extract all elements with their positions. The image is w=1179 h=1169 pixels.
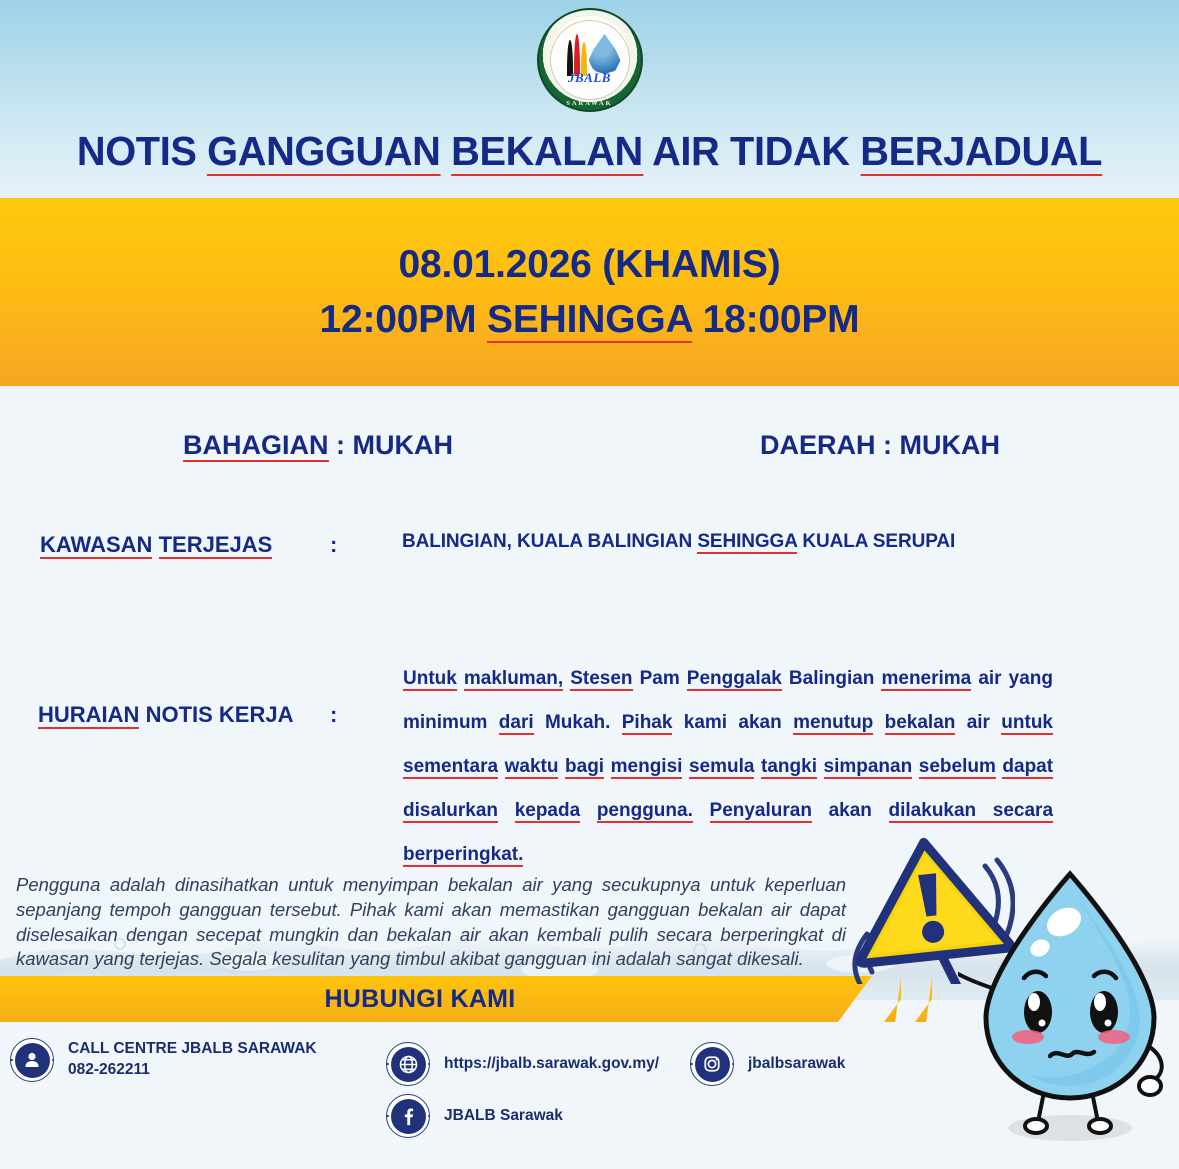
notice-time: 12:00PM SEHINGGA 18:00PM [320,292,860,347]
contact-facebook[interactable]: JBALB Sarawak [386,1094,563,1138]
affected-area-value: BALINGIAN, KUALA BALINGIAN SEHINGGA KUAL… [402,531,955,553]
call-centre-text: CALL CENTRE JBALB SARAWAK 082-262211 [68,1039,317,1081]
instagram-icon [690,1042,734,1086]
work-description-colon: : [330,702,337,728]
contact-banner-title: HUBUNGI KAMI [0,976,840,1022]
division-text: BAHAGIAN : MUKAH [183,430,453,461]
facebook-icon [386,1094,430,1138]
title-word-1: NOTIS [77,128,207,174]
logo-region-text: SARAWAK [537,100,643,107]
advisory-text: Pengguna adalah dinasihatkan untuk menyi… [16,873,846,972]
facebook-text: JBALB Sarawak [444,1106,563,1127]
affected-area-colon: : [330,532,337,558]
logo-name-text: JBALB [537,70,643,86]
affected-area-label: KAWASAN TERJEJAS [40,532,272,558]
website-text: https://jbalb.sarawak.gov.my/ [444,1054,659,1075]
contact-call-centre[interactable]: CALL CENTRE JBALB SARAWAK 082-262211 [10,1038,317,1082]
instagram-text: jbalbsarawak [748,1054,845,1075]
work-description-label: HURAIAN NOTIS KERJA [38,702,294,728]
notice-poster: JABATAN BEKALAN AIR LUAR BANDAR JBALB SA… [0,0,1179,1169]
person-icon [10,1038,54,1082]
contact-website[interactable]: https://jbalb.sarawak.gov.my/ [386,1042,659,1086]
jbalb-logo: JABATAN BEKALAN AIR LUAR BANDAR JBALB SA… [537,8,643,112]
date-time-banner: 08.01.2026 (KHAMIS) 12:00PM SEHINGGA 18:… [0,198,1179,386]
title-word-3: BEKALAN [451,128,643,176]
notice-date: 08.01.2026 (KHAMIS) [398,237,780,292]
title-word-4: BERJADUAL [860,128,1102,176]
page-title: NOTIS GANGGUAN BEKALAN AIR TIDAK BERJADU… [18,128,1162,175]
call-centre-number: 082-262211 [68,1060,317,1081]
contact-instagram[interactable]: jbalbsarawak [690,1042,845,1086]
water-droplet-mascot [958,860,1179,1160]
title-word-2: GANGGUAN [207,128,440,176]
district-text: DAERAH : MUKAH [760,430,1000,461]
call-centre-label: CALL CENTRE JBALB SARAWAK [68,1039,317,1060]
globe-icon [386,1042,430,1086]
